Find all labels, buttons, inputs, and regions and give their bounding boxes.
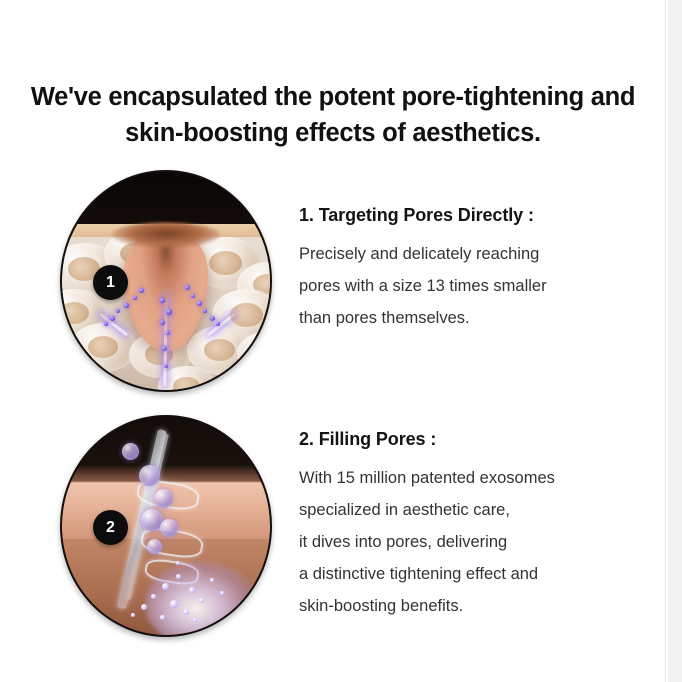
- feature-2-title: 2. Filling Pores :: [299, 428, 649, 450]
- feature-2-body-line-3: it dives into pores, delivering: [299, 526, 649, 558]
- feature-1-title: 1. Targeting Pores Directly :: [299, 204, 649, 226]
- feature-2-body-line-5: skin-boosting benefits.: [299, 590, 649, 622]
- page-title-line-2: skin-boosting effects of aesthetics.: [18, 115, 648, 151]
- pore-cross-section-image: [60, 170, 272, 392]
- content-column: We've encapsulated the potent pore-tight…: [0, 0, 665, 682]
- feature-1-body: Precisely and delicately reaching pores …: [299, 238, 649, 334]
- feature-2-body-line-1: With 15 million patented exosomes: [299, 462, 649, 494]
- feature-2-body-line-2: specialized in aesthetic care,: [299, 494, 649, 526]
- feature-2-body-line-4: a distinctive tightening effect and: [299, 558, 649, 590]
- feature-1-body-line-2: pores with a size 13 times smaller: [299, 270, 649, 302]
- feature-2-text: 2. Filling Pores : With 15 million paten…: [299, 428, 649, 622]
- feature-1-body-line-3: than pores themselves.: [299, 302, 649, 334]
- feature-2-image-wrap: 2: [60, 415, 272, 637]
- feature-1-text: 1. Targeting Pores Directly : Precisely …: [299, 204, 649, 334]
- feature-1-image-wrap: 1: [60, 170, 272, 392]
- page-title: We've encapsulated the potent pore-tight…: [18, 79, 648, 151]
- step-badge-1: 1: [93, 265, 128, 300]
- feature-1-body-line-1: Precisely and delicately reaching: [299, 238, 649, 270]
- page-scrollbar[interactable]: [668, 0, 682, 682]
- needle-filling-pore-image: [60, 415, 272, 637]
- content-divider: [665, 0, 666, 682]
- page-title-line-1: We've encapsulated the potent pore-tight…: [18, 79, 648, 115]
- product-detail-page: We've encapsulated the potent pore-tight…: [0, 0, 682, 682]
- feature-2-body: With 15 million patented exosomes specia…: [299, 462, 649, 622]
- step-badge-2: 2: [93, 510, 128, 545]
